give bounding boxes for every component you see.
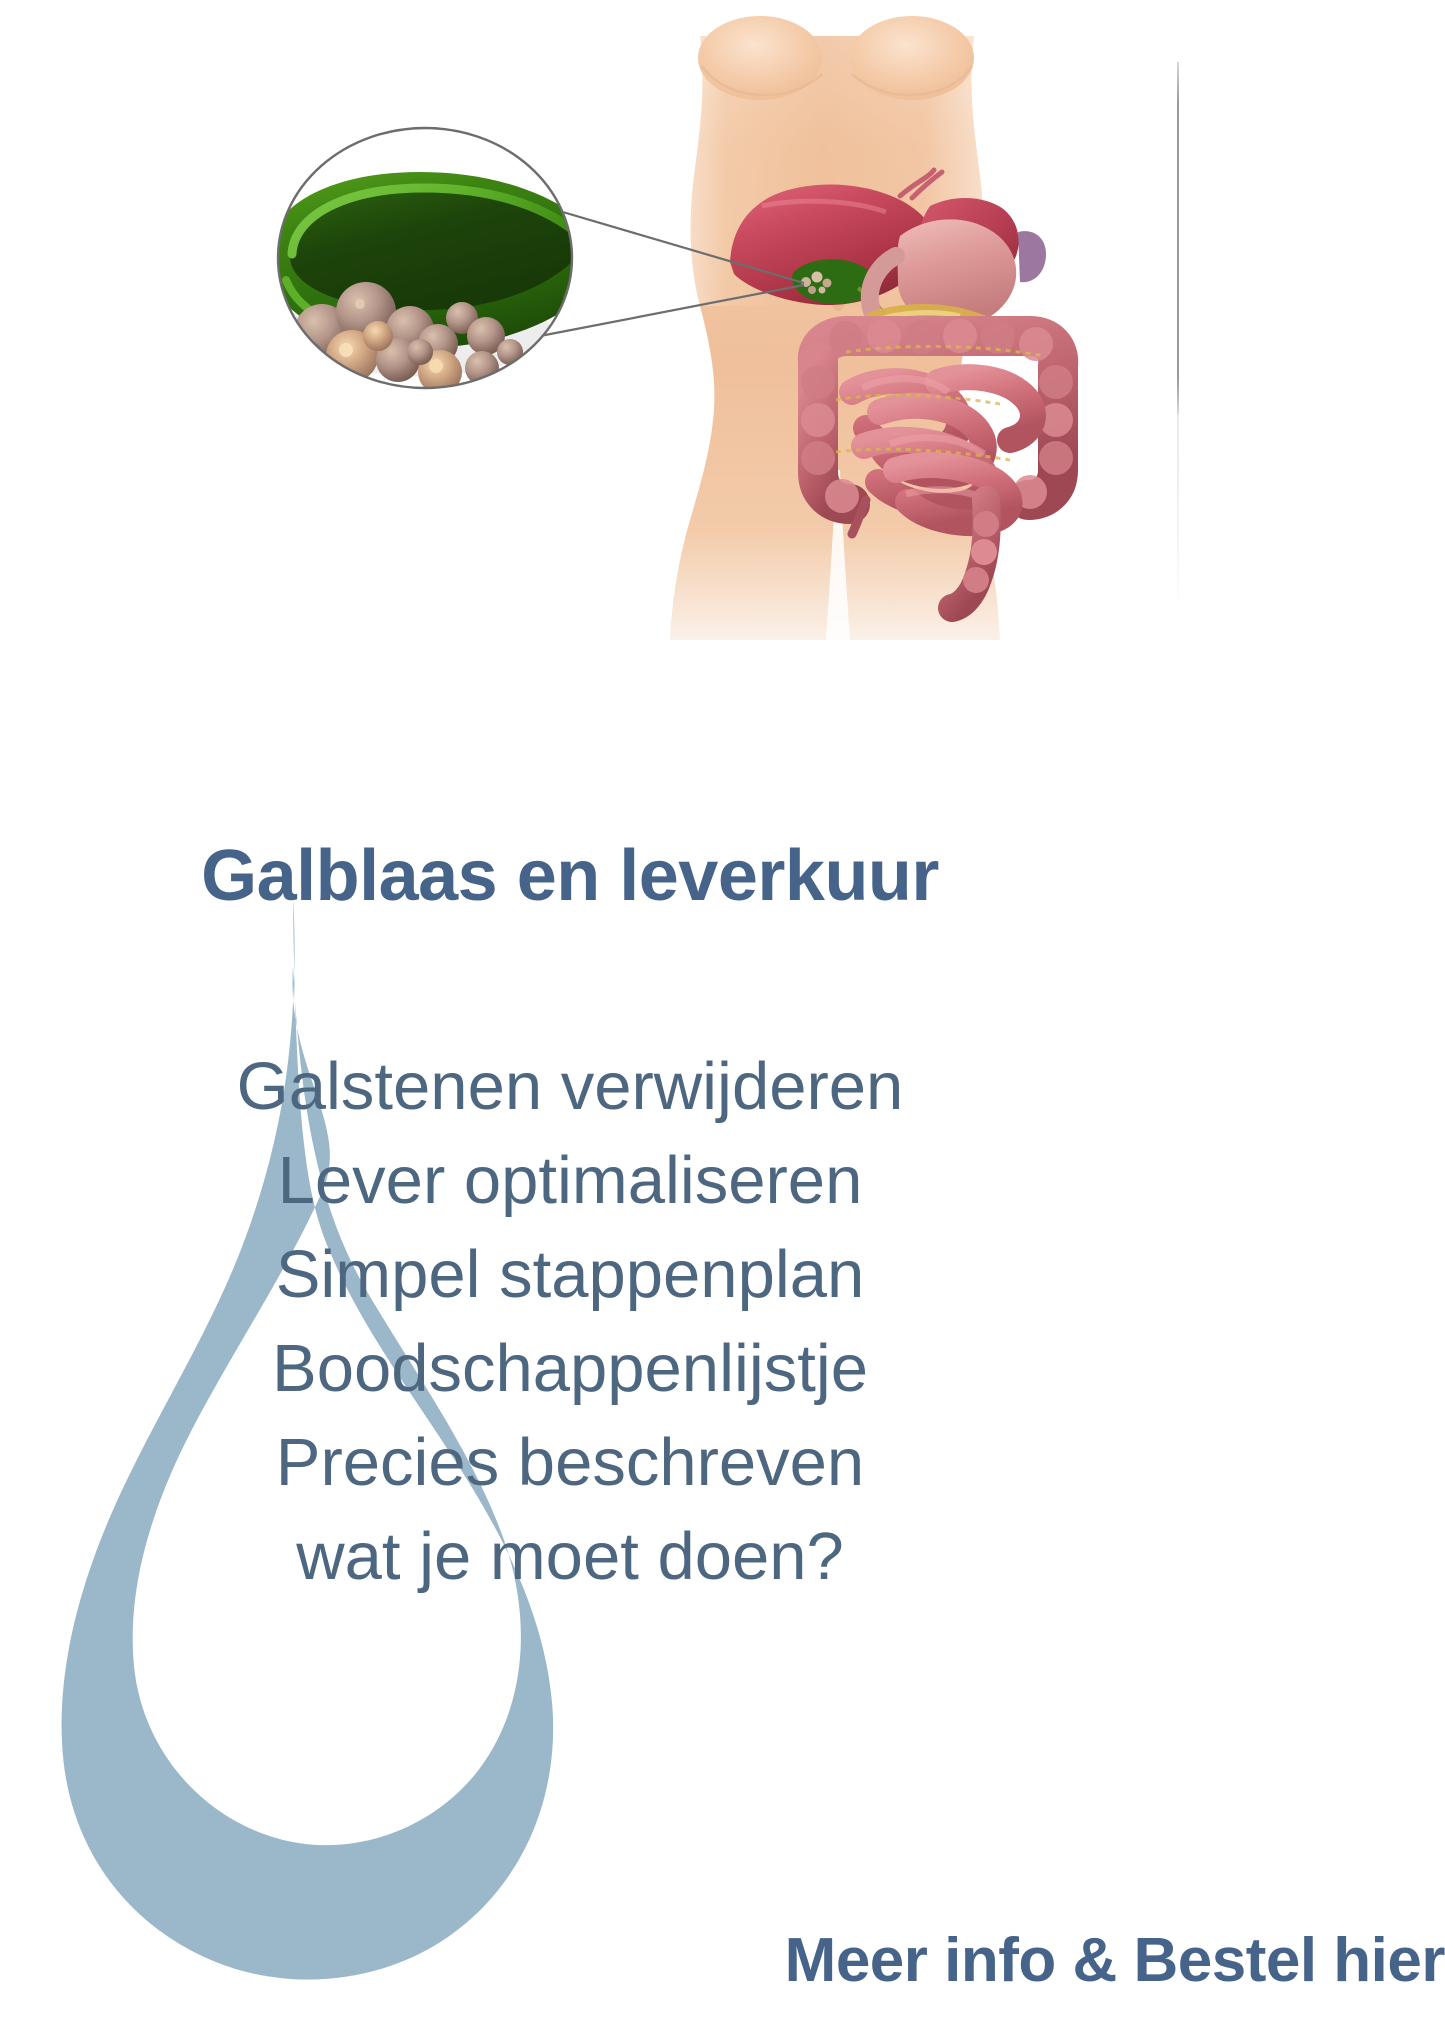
- benefit-line: Lever optimaliseren: [0, 1134, 1140, 1228]
- female-torso-anatomy: [670, 16, 1073, 640]
- chest-right: [850, 16, 974, 100]
- benefit-list: Galstenen verwijderen Lever optimalisere…: [0, 1040, 1140, 1604]
- vertical-divider-rule-fade: [1177, 414, 1179, 614]
- gallbladder-anatomy-illustration: [0, 0, 1445, 640]
- benefit-line: Precies beschreven: [0, 1416, 1140, 1510]
- benefit-line: Simpel stappenplan: [0, 1228, 1140, 1322]
- hero-illustration: [0, 0, 1445, 640]
- page-title: Galblaas en leverkuur: [0, 840, 1140, 912]
- gallbladder-closeup-circle: [268, 120, 611, 400]
- cta-link[interactable]: Meer info & Bestel hier: [0, 1930, 1445, 1992]
- benefit-line: wat je moet doen?: [0, 1510, 1140, 1604]
- spleen: [1018, 231, 1046, 282]
- benefit-line: Galstenen verwijderen: [0, 1040, 1140, 1134]
- benefit-line: Boodschappenlijstje: [0, 1322, 1140, 1416]
- poster-page: Galblaas en leverkuur Galstenen verwijde…: [0, 0, 1445, 2044]
- vertical-divider-rule: [1177, 62, 1179, 414]
